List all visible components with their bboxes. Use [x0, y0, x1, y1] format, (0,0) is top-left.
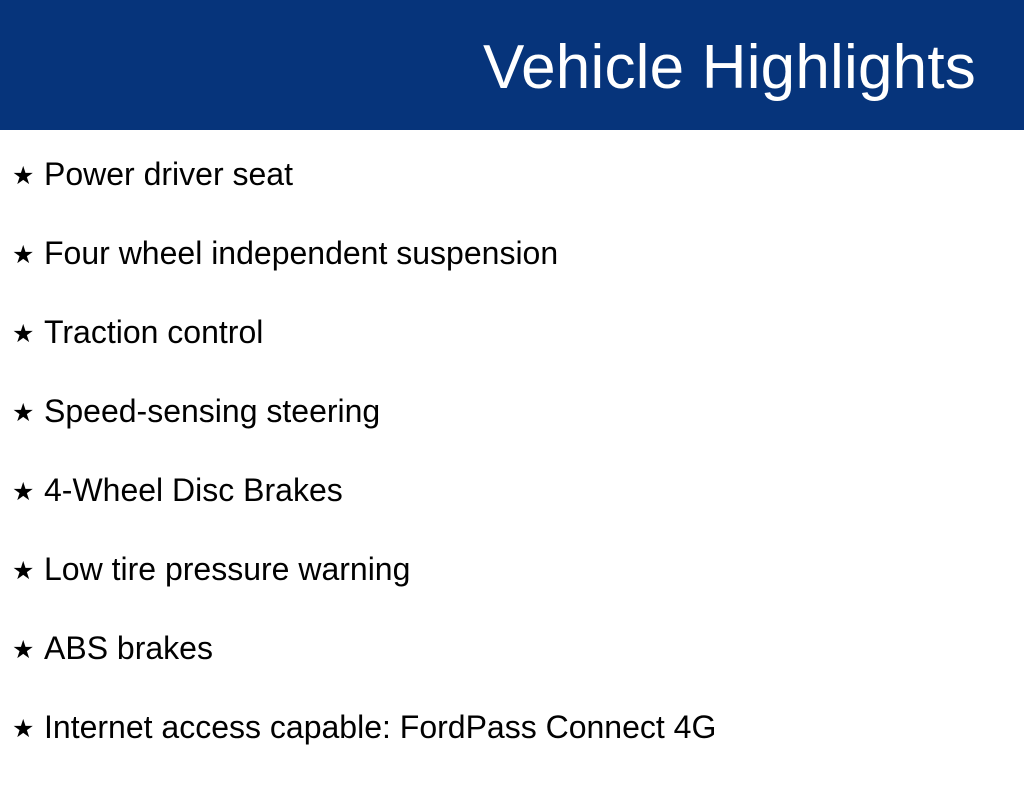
list-item: ★ 4-Wheel Disc Brakes [0, 474, 1024, 553]
star-bullet-icon: ★ [12, 638, 44, 663]
list-item: ★ Four wheel independent suspension [0, 237, 1024, 316]
star-bullet-icon: ★ [12, 717, 44, 742]
list-item: ★ Speed-sensing steering [0, 395, 1024, 474]
list-item: ★ ABS brakes [0, 632, 1024, 711]
star-bullet-icon: ★ [12, 164, 44, 189]
list-item-label: 4-Wheel Disc Brakes [44, 474, 343, 506]
page-title: Vehicle Highlights [483, 37, 976, 99]
list-item-label: Internet access capable: FordPass Connec… [44, 711, 716, 743]
star-bullet-icon: ★ [12, 480, 44, 505]
list-item-label: Speed-sensing steering [44, 395, 380, 427]
star-bullet-icon: ★ [12, 559, 44, 584]
slide-header-band: Vehicle Highlights [0, 0, 1024, 130]
list-item-label: Low tire pressure warning [44, 553, 410, 585]
list-item: ★ Internet access capable: FordPass Conn… [0, 711, 1024, 790]
list-item-label: Power driver seat [44, 158, 293, 190]
star-bullet-icon: ★ [12, 322, 44, 347]
list-item-label: Traction control [44, 316, 263, 348]
star-bullet-icon: ★ [12, 401, 44, 426]
list-item: ★ Power driver seat [0, 130, 1024, 237]
vehicle-highlights-slide: Vehicle Highlights ★ Power driver seat ★… [0, 0, 1024, 768]
list-item-label: Four wheel independent suspension [44, 237, 558, 269]
vehicle-highlights-list: ★ Power driver seat ★ Four wheel indepen… [0, 130, 1024, 790]
list-item: ★ Low tire pressure warning [0, 553, 1024, 632]
list-item: ★ Traction control [0, 316, 1024, 395]
list-item-label: ABS brakes [44, 632, 213, 664]
star-bullet-icon: ★ [12, 243, 44, 268]
